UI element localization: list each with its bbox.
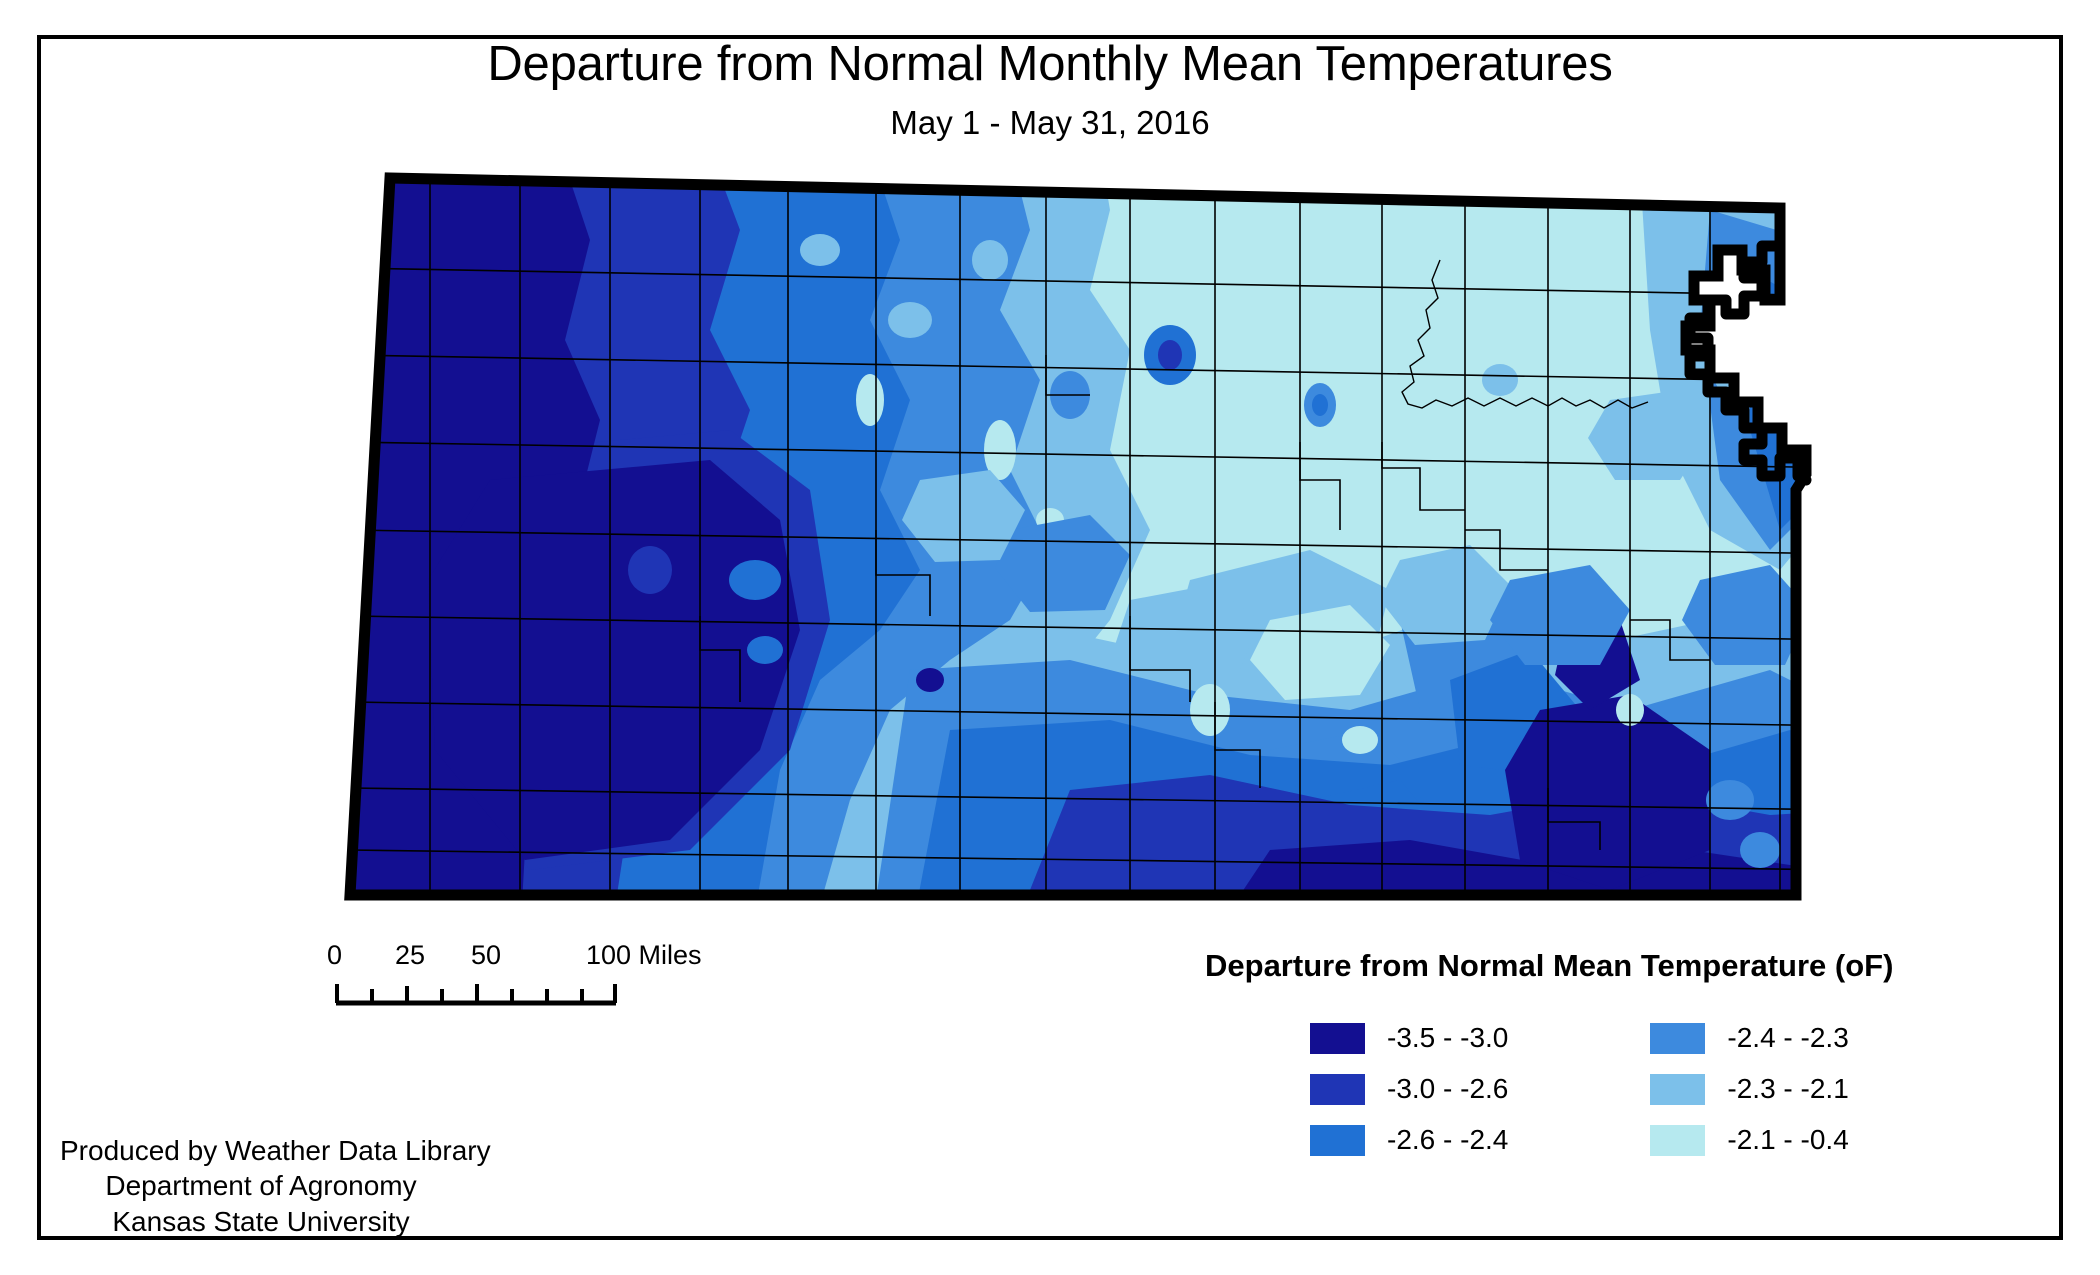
credit-line-3: Kansas State University: [60, 1204, 500, 1239]
legend-label: -2.3 - -2.1: [1727, 1073, 1848, 1105]
legend-item: -3.5 - -3.0: [1310, 1022, 1508, 1054]
legend-label: -2.6 - -2.4: [1387, 1124, 1508, 1156]
legend: -3.5 - -3.0 -2.4 - -2.3 -3.0 - -2.6 -2.3…: [1310, 1022, 1849, 1156]
scale-label-50: 50: [471, 940, 501, 971]
legend-swatch: [1310, 1023, 1365, 1054]
kansas-choropleth-map: [310, 150, 1850, 940]
legend-label: -3.0 - -2.6: [1387, 1073, 1508, 1105]
legend-swatch: [1650, 1125, 1705, 1156]
legend-item: -2.3 - -2.1: [1650, 1073, 1848, 1105]
legend-label: -2.4 - -2.3: [1727, 1022, 1848, 1054]
page-title: Departure from Normal Monthly Mean Tempe…: [0, 36, 2100, 92]
page-subtitle: May 1 - May 31, 2016: [0, 104, 2100, 142]
legend-swatch: [1310, 1125, 1365, 1156]
scale-label-0: 0: [327, 940, 342, 971]
legend-item: -2.6 - -2.4: [1310, 1124, 1508, 1156]
map-svg: [310, 150, 1850, 940]
scale-label-100-miles: 100 Miles: [586, 940, 702, 971]
legend-swatch: [1650, 1023, 1705, 1054]
legend-item: -2.4 - -2.3: [1650, 1022, 1848, 1054]
scale-bar: 0 25 50 100 Miles: [333, 940, 633, 1010]
contour-layer: [310, 150, 1850, 940]
scale-bar-labels: 0 25 50 100 Miles: [333, 940, 633, 974]
legend-swatch: [1310, 1074, 1365, 1105]
legend-label: -2.1 - -0.4: [1727, 1124, 1848, 1156]
legend-item: -3.0 - -2.6: [1310, 1073, 1508, 1105]
legend-title: Departure from Normal Mean Temperature (…: [1205, 948, 1893, 984]
scale-label-25: 25: [395, 940, 425, 971]
legend-swatch: [1650, 1074, 1705, 1105]
credit-block: Produced by Weather Data Library Departm…: [60, 1133, 500, 1239]
credit-line-2: Department of Agronomy: [60, 1168, 500, 1203]
scale-bar-track: [333, 980, 619, 1006]
legend-label: -3.5 - -3.0: [1387, 1022, 1508, 1054]
legend-item: -2.1 - -0.4: [1650, 1124, 1848, 1156]
map-page: Departure from Normal Monthly Mean Tempe…: [0, 0, 2100, 1275]
credit-line-1: Produced by Weather Data Library: [60, 1133, 500, 1168]
